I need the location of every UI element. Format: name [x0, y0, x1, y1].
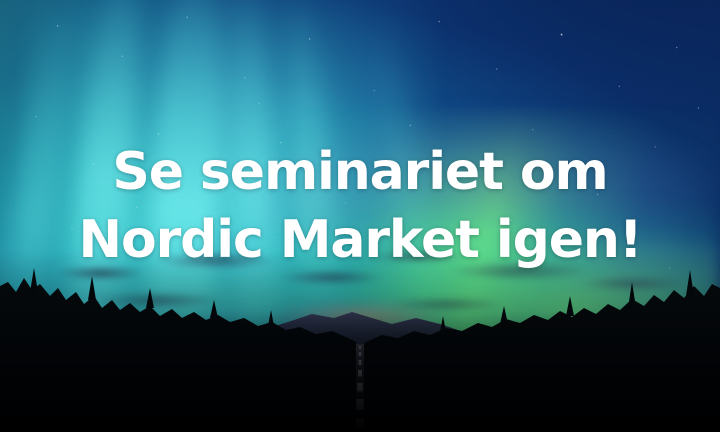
- headline-line-2: Nordic Market igen!: [18, 206, 702, 274]
- headline-line-1: Se seminariet om: [18, 138, 702, 206]
- aurora-seminar-hero-banner: Se seminariet om Nordic Market igen!: [0, 0, 720, 432]
- headline-block: Se seminariet om Nordic Market igen!: [0, 138, 720, 274]
